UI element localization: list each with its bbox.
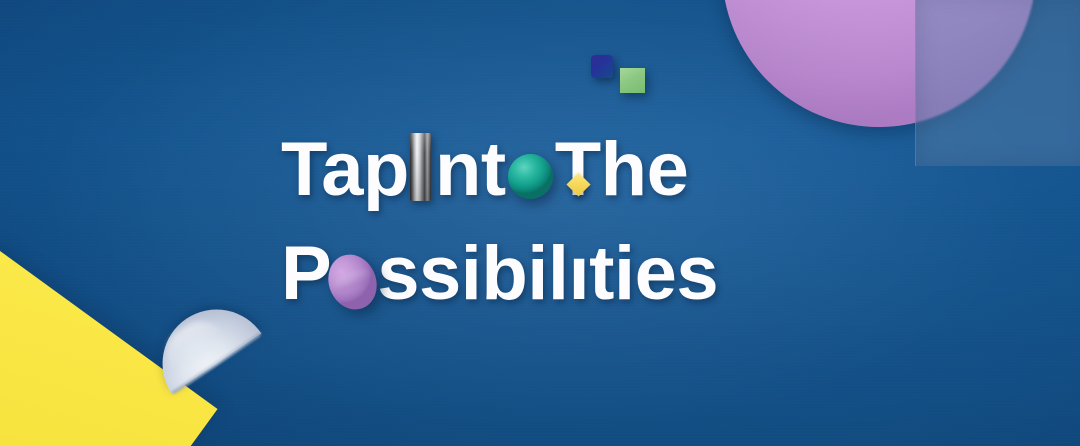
headline-text-nt: nt [435, 118, 506, 222]
headline: Tap nt The Pssibilıties [281, 118, 821, 326]
headline-text-tap: Tap [281, 118, 409, 222]
teal-sphere-icon [508, 154, 553, 199]
headline-text-the: The [555, 118, 689, 222]
headline-text-ssibil: ssibil [377, 222, 568, 326]
headline-text-p: P [281, 222, 331, 326]
headline-line-1: Tap nt The [281, 118, 821, 222]
headline-line-2: Pssibilıties [281, 222, 821, 326]
headline-dotless-i: ı [569, 222, 590, 326]
headline-text-i: ı [569, 222, 590, 326]
banner-canvas: Tap nt The Pssibilıties [0, 0, 1080, 446]
metallic-cylinder-icon [410, 133, 431, 201]
headline-text-ties: ties [589, 222, 718, 326]
